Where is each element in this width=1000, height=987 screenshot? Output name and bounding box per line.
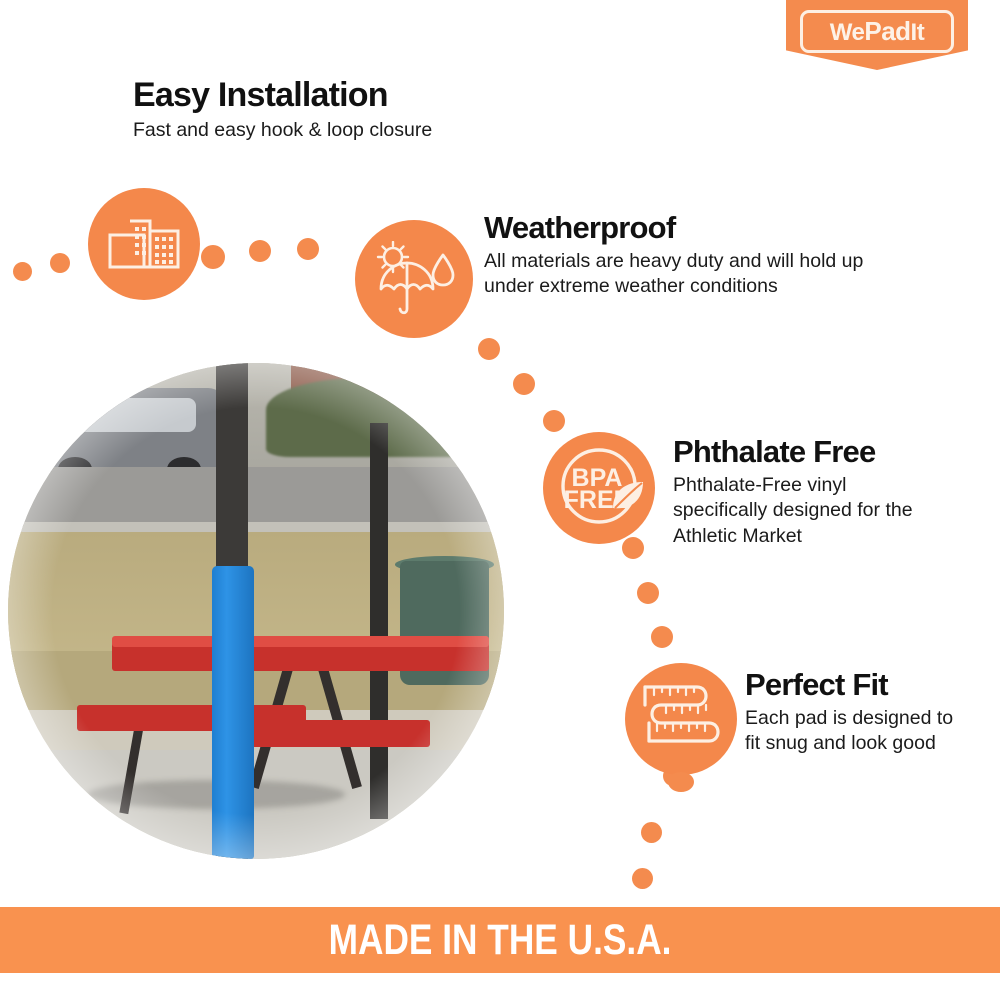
trail-dot bbox=[297, 238, 319, 260]
sun-umbrella-raindrop-icon bbox=[373, 241, 455, 317]
trail-dot bbox=[50, 253, 70, 273]
brand-logo: WePadIt bbox=[786, 0, 968, 70]
trail-dot bbox=[637, 582, 659, 604]
feature-description: Fast and easy hook & loop closure bbox=[133, 118, 432, 144]
trail-dot bbox=[513, 373, 535, 395]
trail-dot bbox=[651, 626, 673, 648]
trail-dot bbox=[13, 262, 32, 281]
logo-outline-pill: WePadIt bbox=[800, 10, 954, 53]
photo-vignette bbox=[8, 363, 504, 859]
feature-title: Weatherproof bbox=[484, 212, 904, 245]
icon-easy-installation bbox=[88, 188, 200, 300]
feature-title: Easy Installation bbox=[133, 78, 432, 114]
feature-phthalate-free: Phthalate Free Phthalate-Free vinyl spec… bbox=[673, 436, 938, 550]
feature-easy-installation: Easy Installation Fast and easy hook & l… bbox=[133, 78, 432, 143]
trail-dot bbox=[641, 822, 662, 843]
banner-text: MADE IN THE U.S.A. bbox=[329, 916, 672, 965]
trail-dot bbox=[668, 772, 694, 792]
logo-text-we: We bbox=[830, 19, 865, 46]
logo-text: WePadIt bbox=[830, 18, 924, 45]
feature-description: Phthalate-Free vinyl specifically design… bbox=[673, 473, 938, 550]
building-icon bbox=[108, 213, 180, 275]
feature-perfect-fit: Perfect Fit Each pad is designed to fit … bbox=[745, 669, 973, 757]
bpa-free-leaf-icon: BPA FREE bbox=[551, 440, 647, 536]
icon-phthalate-free: BPA FREE bbox=[543, 432, 655, 544]
infographic-canvas: WePadIt bbox=[0, 0, 1000, 987]
feature-title: Phthalate Free bbox=[673, 436, 938, 469]
logo-text-it: It bbox=[911, 19, 925, 46]
logo-text-pad: Pad bbox=[864, 16, 910, 46]
product-photo bbox=[8, 363, 504, 859]
measuring-tape-icon bbox=[635, 677, 727, 761]
icon-perfect-fit bbox=[625, 663, 737, 775]
trail-dot bbox=[478, 338, 500, 360]
made-in-usa-banner: MADE IN THE U.S.A. bbox=[0, 907, 1000, 973]
trail-dot bbox=[249, 240, 271, 262]
trail-dot bbox=[201, 245, 225, 269]
feature-description: Each pad is designed to fit snug and loo… bbox=[745, 706, 973, 757]
trail-dot bbox=[622, 537, 644, 559]
feature-description: All materials are heavy duty and will ho… bbox=[484, 249, 904, 300]
feature-weatherproof: Weatherproof All materials are heavy dut… bbox=[484, 212, 904, 300]
icon-weatherproof bbox=[355, 220, 473, 338]
feature-title: Perfect Fit bbox=[745, 669, 973, 702]
trail-dot bbox=[543, 410, 565, 432]
trail-dot bbox=[632, 868, 653, 889]
